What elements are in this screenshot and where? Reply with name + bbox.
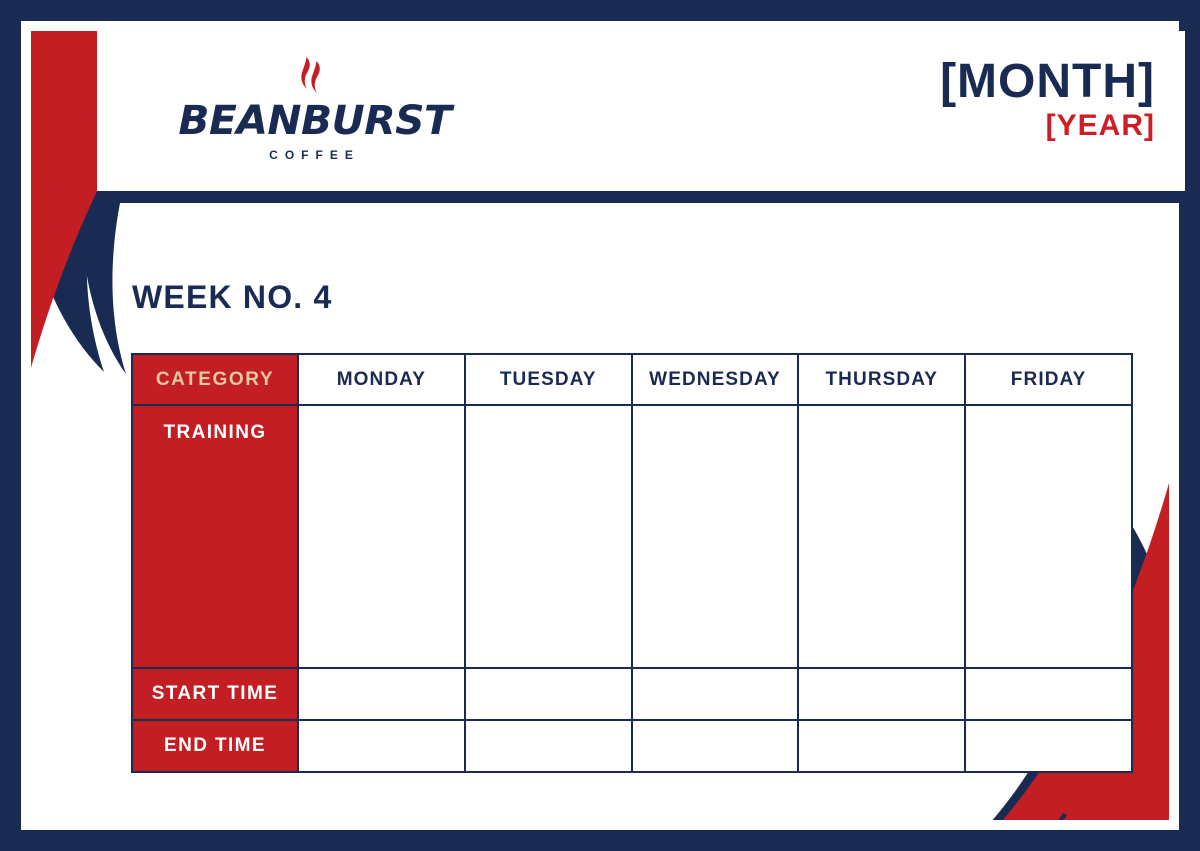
year-placeholder[interactable]: [YEAR] [940,109,1155,142]
top-left-red-swoosh-body [0,13,148,496]
cell-training-wednesday[interactable] [632,405,799,668]
top-left-red-swoosh [0,0,162,500]
column-header-tuesday: TUESDAY [465,354,632,405]
row-label-end-time: END TIME [132,720,298,772]
page-border-frame [0,0,1200,851]
column-header-thursday: THURSDAY [798,354,965,405]
column-header-category: CATEGORY [132,354,298,405]
brand-tagline: COFFEE [181,148,441,162]
cell-end-time-wednesday[interactable] [632,720,799,772]
cell-start-time-thursday[interactable] [798,668,965,720]
bottom-right-red-swoosh [1038,351,1200,851]
coffee-bean-flame-icon [289,53,333,97]
cell-end-time-friday[interactable] [965,720,1132,772]
column-header-friday: FRIDAY [965,354,1132,405]
bottom-right-red-swoosh-arc [988,365,1198,851]
cell-end-time-tuesday[interactable] [465,720,632,772]
cell-training-friday[interactable] [965,405,1132,668]
cell-start-time-wednesday[interactable] [632,668,799,720]
schedule-table-wrapper: CATEGORY MONDAY TUESDAY WEDNESDAY THURSD… [131,353,1131,772]
cell-start-time-friday[interactable] [965,668,1132,720]
column-header-wednesday: WEDNESDAY [632,354,799,405]
brand-name: BEANBURST [178,101,443,141]
column-header-monday: MONDAY [298,354,465,405]
month-placeholder[interactable]: [MONTH] [940,57,1155,107]
cell-training-tuesday[interactable] [465,405,632,668]
corner-decoration [0,0,1200,851]
table-row: START TIME [132,668,1132,720]
row-label-start-time: START TIME [132,668,298,720]
header-band: BEANBURST COFFEE [MONTH] [YEAR] [97,31,1197,203]
week-number-heading[interactable]: WEEK NO. 4 [132,279,332,316]
brand-logo: BEANBURST COFFEE [181,53,441,162]
top-left-navy-swoosh [0,0,210,372]
bottom-right-navy-swoosh-tail [964,477,1118,851]
cell-end-time-monday[interactable] [298,720,465,772]
cell-start-time-monday[interactable] [298,668,465,720]
table-header-row: CATEGORY MONDAY TUESDAY WEDNESDAY THURSD… [132,354,1132,405]
cell-training-thursday[interactable] [798,405,965,668]
top-left-navy-swoosh-tail [82,0,236,374]
cell-end-time-thursday[interactable] [798,720,965,772]
top-left-red-swoosh-arc [2,0,212,486]
content-sheet: BEANBURST COFFEE [MONTH] [YEAR] WEEK NO.… [31,31,1169,820]
period-title: [MONTH] [YEAR] [940,57,1155,142]
table-row: TRAINING [132,405,1132,668]
cell-start-time-tuesday[interactable] [465,668,632,720]
weekly-schedule-page: BEANBURST COFFEE [MONTH] [YEAR] WEEK NO.… [0,0,1200,851]
cell-training-monday[interactable] [298,405,465,668]
row-label-training: TRAINING [132,405,298,668]
page-border-inner-gap [21,21,1179,830]
schedule-table: CATEGORY MONDAY TUESDAY WEDNESDAY THURSD… [131,353,1133,773]
bottom-right-red-swoosh-body [1052,355,1200,838]
bottom-right-navy-swoosh [990,479,1200,851]
table-row: END TIME [132,720,1132,772]
